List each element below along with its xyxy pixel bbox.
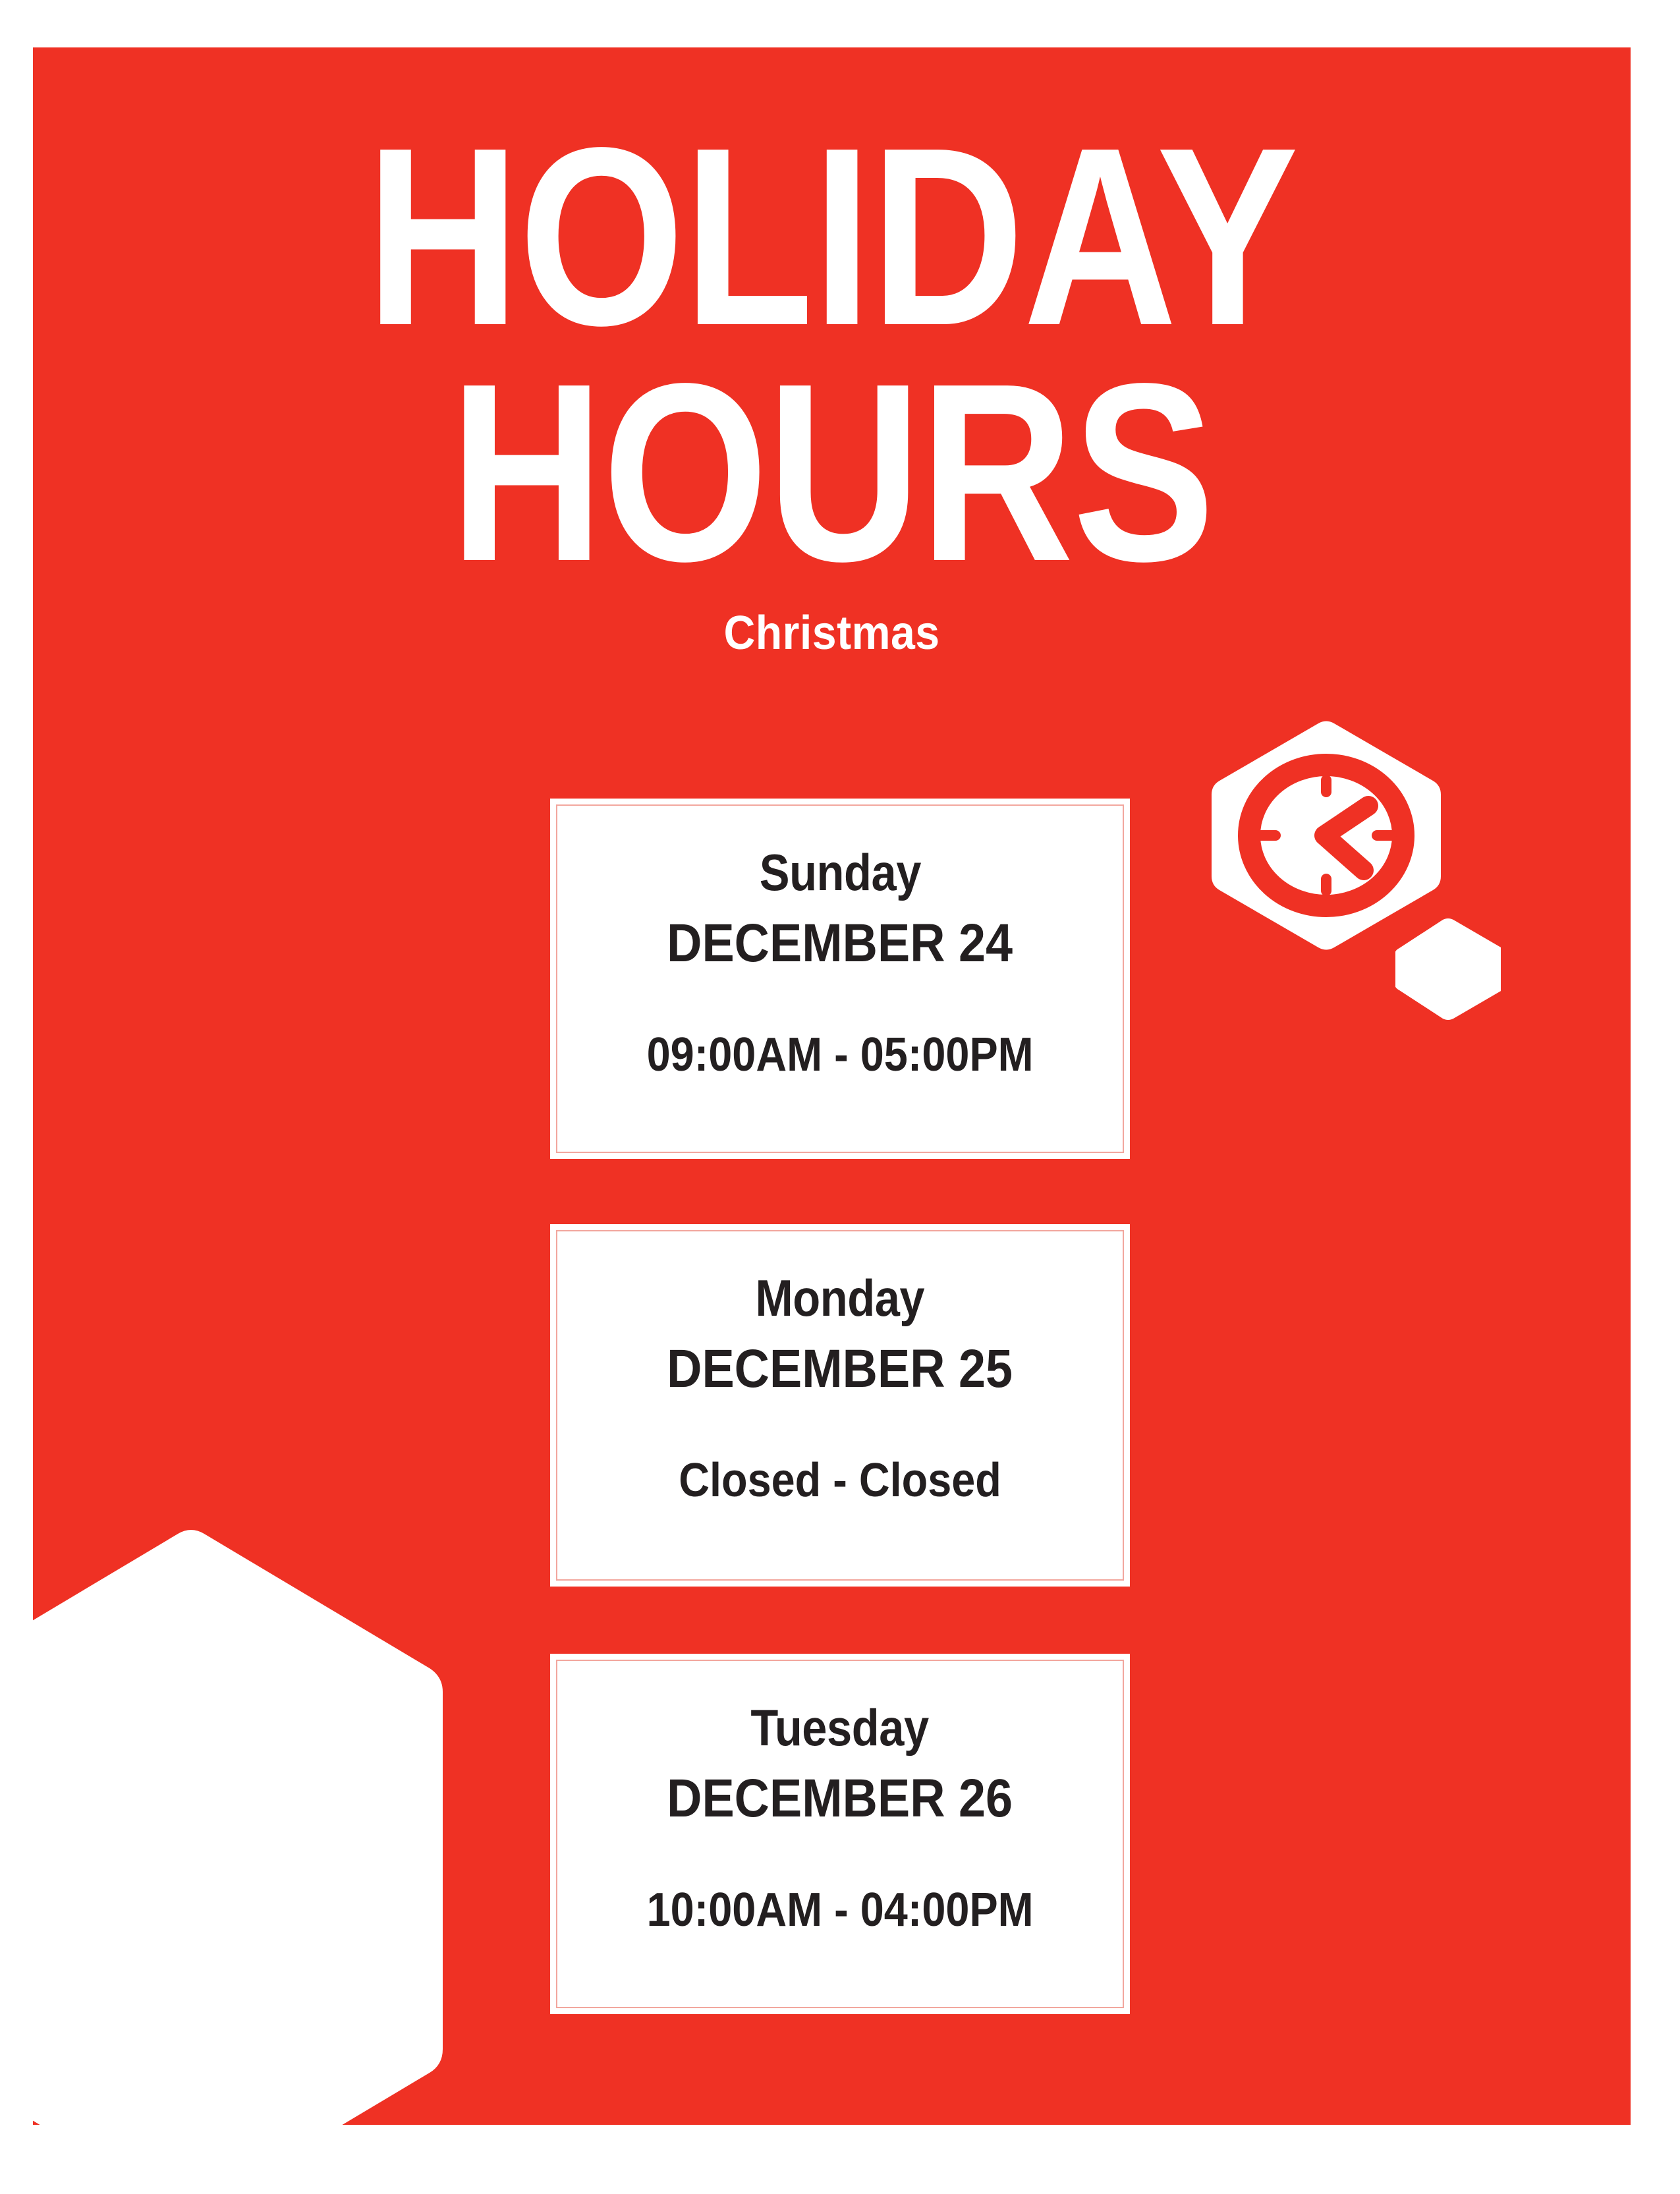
decorative-hexagon-corner-icon [26, 1529, 448, 2194]
schedule-card-hours: Closed - Closed [679, 1457, 1001, 1504]
title-line-1: HOLIDAY [161, 119, 1503, 354]
schedule-card: Tuesday DECEMBER 26 10:00AM - 04:00PM [550, 1654, 1130, 2014]
schedule-card-hours: 09:00AM - 05:00PM [646, 1031, 1033, 1079]
schedule-card-frame: Tuesday DECEMBER 26 10:00AM - 04:00PM [556, 1660, 1124, 2008]
schedule-card-date: DECEMBER 25 [667, 1342, 1013, 1396]
schedule-card-day: Monday [756, 1272, 925, 1324]
schedule-card-frame: Sunday DECEMBER 24 09:00AM - 05:00PM [556, 804, 1124, 1153]
schedule-card-date: DECEMBER 26 [667, 1772, 1013, 1826]
holiday-hours-poster: HOLIDAY HOURS Christmas Sunday DECEMBER … [0, 0, 1680, 2174]
schedule-card-hours: 10:00AM - 04:00PM [646, 1886, 1033, 1934]
decorative-hexagon-icon [1395, 917, 1501, 1021]
schedule-card-day: Tuesday [751, 1702, 929, 1753]
title-line-2: HOURS [161, 354, 1503, 590]
schedule-card: Monday DECEMBER 25 Closed - Closed [550, 1224, 1130, 1587]
schedule-card-day: Sunday [759, 847, 920, 898]
schedule-card-frame: Monday DECEMBER 25 Closed - Closed [556, 1230, 1124, 1581]
schedule-card: Sunday DECEMBER 24 09:00AM - 05:00PM [550, 799, 1130, 1159]
poster-headline: HOLIDAY HOURS [33, 119, 1631, 590]
schedule-card-date: DECEMBER 24 [667, 916, 1013, 970]
poster-subtitle: Christmas [97, 609, 1567, 657]
